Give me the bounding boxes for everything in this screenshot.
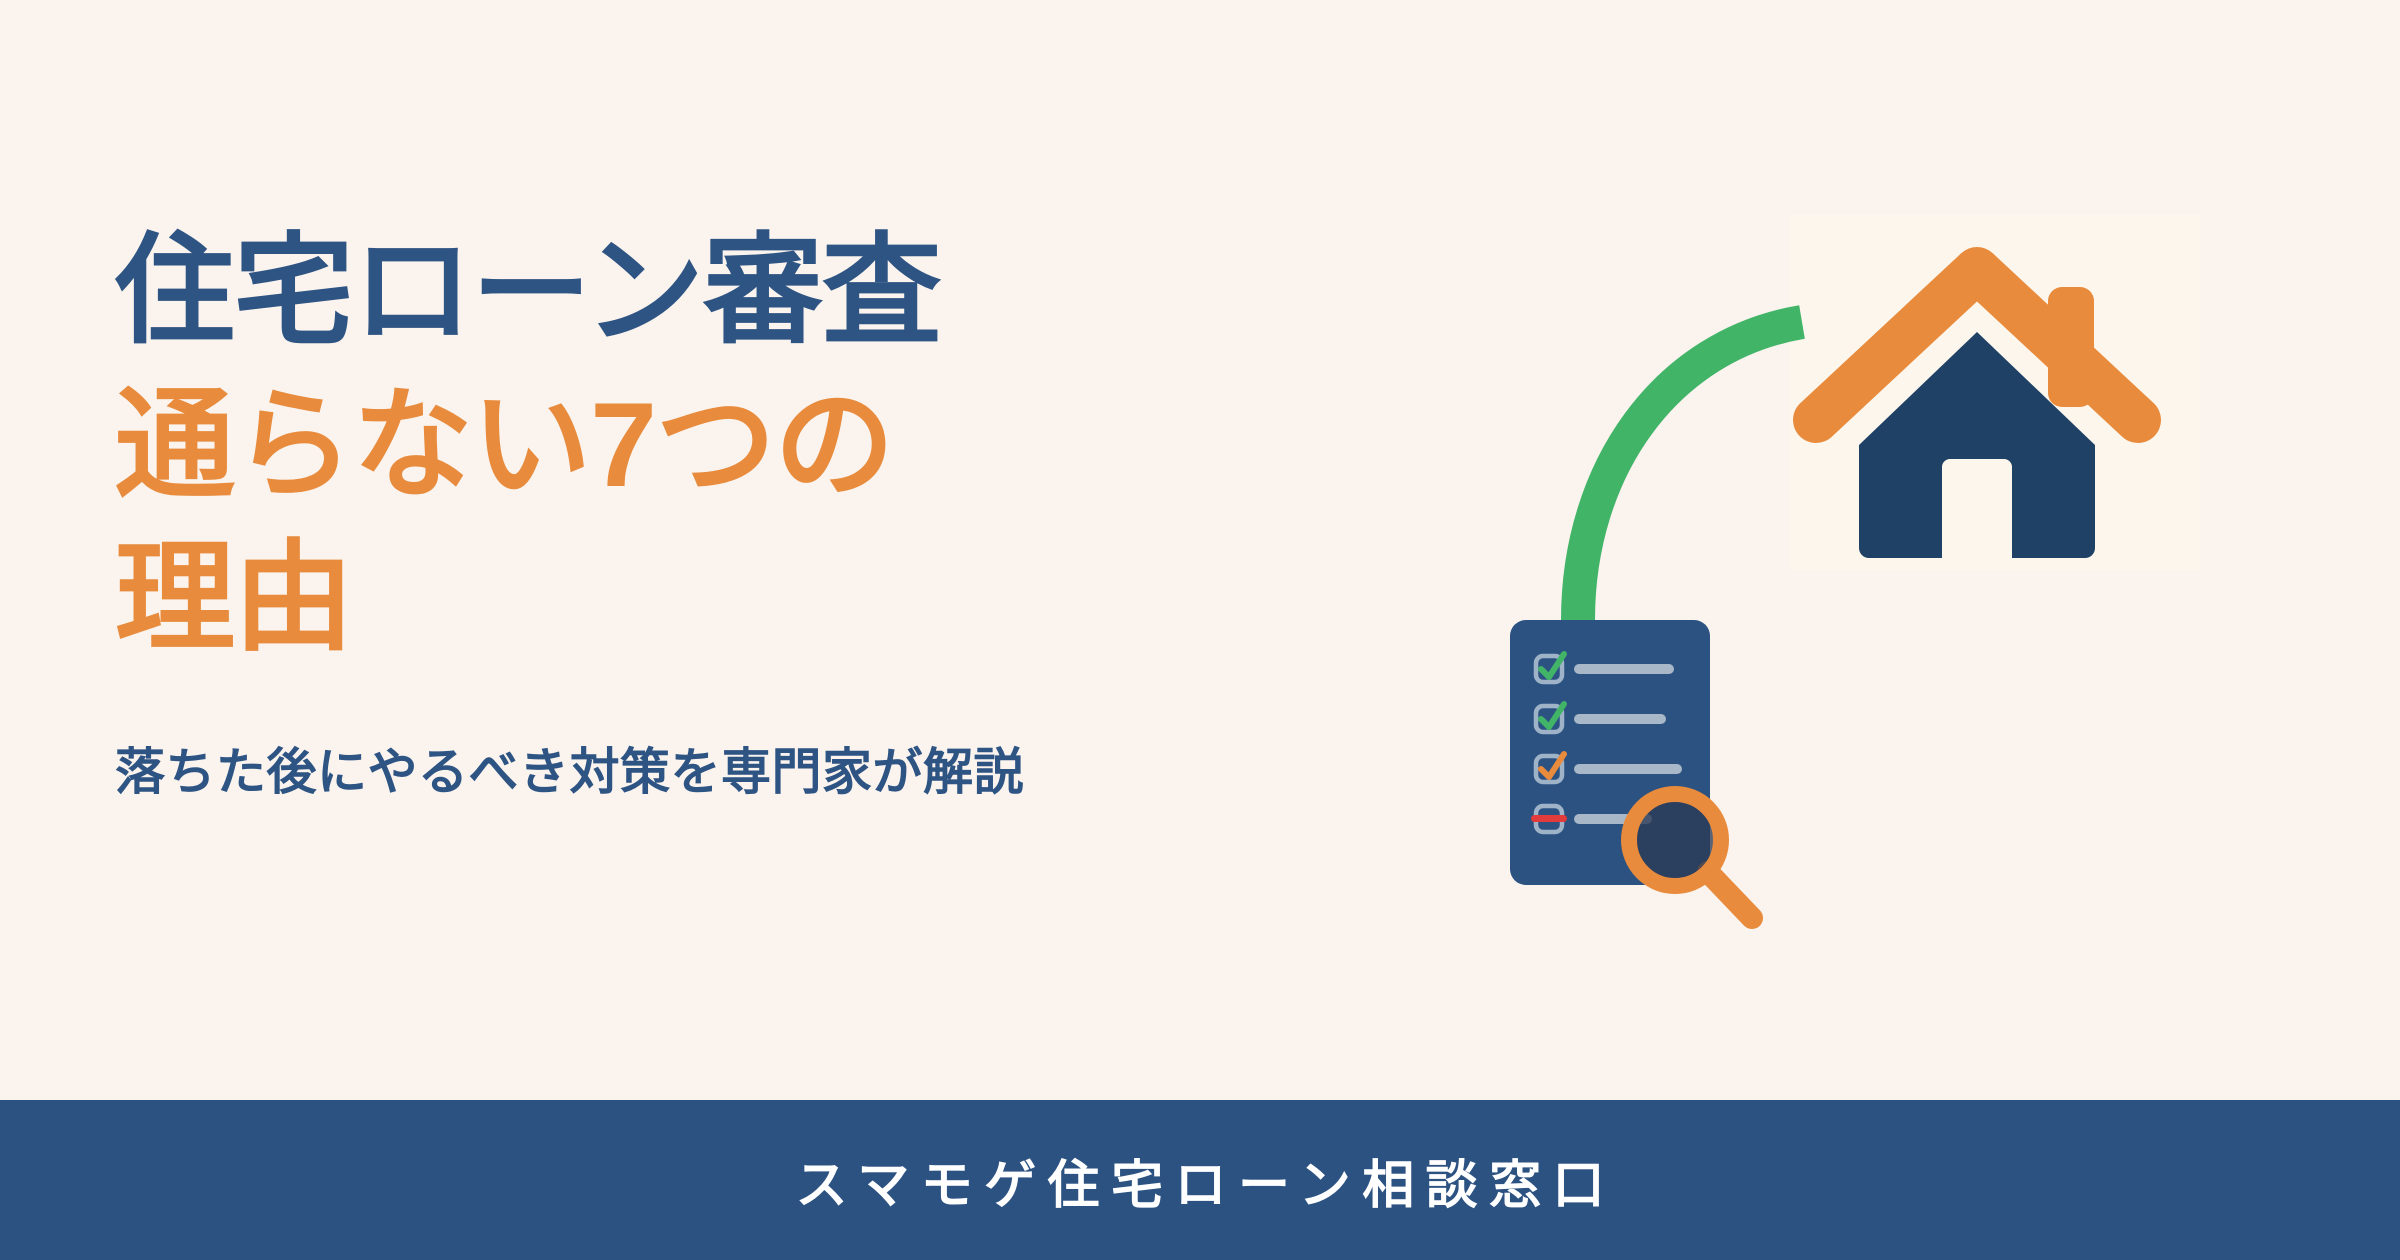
checklist-line-1 <box>1574 664 1674 674</box>
banner-root: 住宅ローン審査 通らない7つの 理由 落ちた後にやるべき対策を専門家が解説 <box>0 0 2400 1260</box>
headline-block: 住宅ローン審査 通らない7つの 理由 落ちた後にやるべき対策を専門家が解説 <box>115 215 1395 805</box>
checklist-line-2 <box>1574 714 1666 724</box>
footer-bar: スマモゲ住宅ローン相談窓口 <box>0 1100 2400 1260</box>
headline-line-1: 住宅ローン審査 <box>115 215 1395 369</box>
illustration-group <box>1450 150 2250 950</box>
headline-line-2: 通らない7つの <box>115 369 1395 523</box>
headline-line-3: 理由 <box>115 522 1395 676</box>
subtitle: 落ちた後にやるべき対策を専門家が解説 <box>115 740 1395 805</box>
checklist-line-3 <box>1574 764 1682 774</box>
footer-brand-text: スマモゲ住宅ローン相談窓口 <box>784 1143 1616 1218</box>
magnifier-icon <box>1629 794 1752 918</box>
dash-icon-red-4 <box>1531 815 1567 822</box>
connector-arc-icon <box>1578 322 1802 620</box>
